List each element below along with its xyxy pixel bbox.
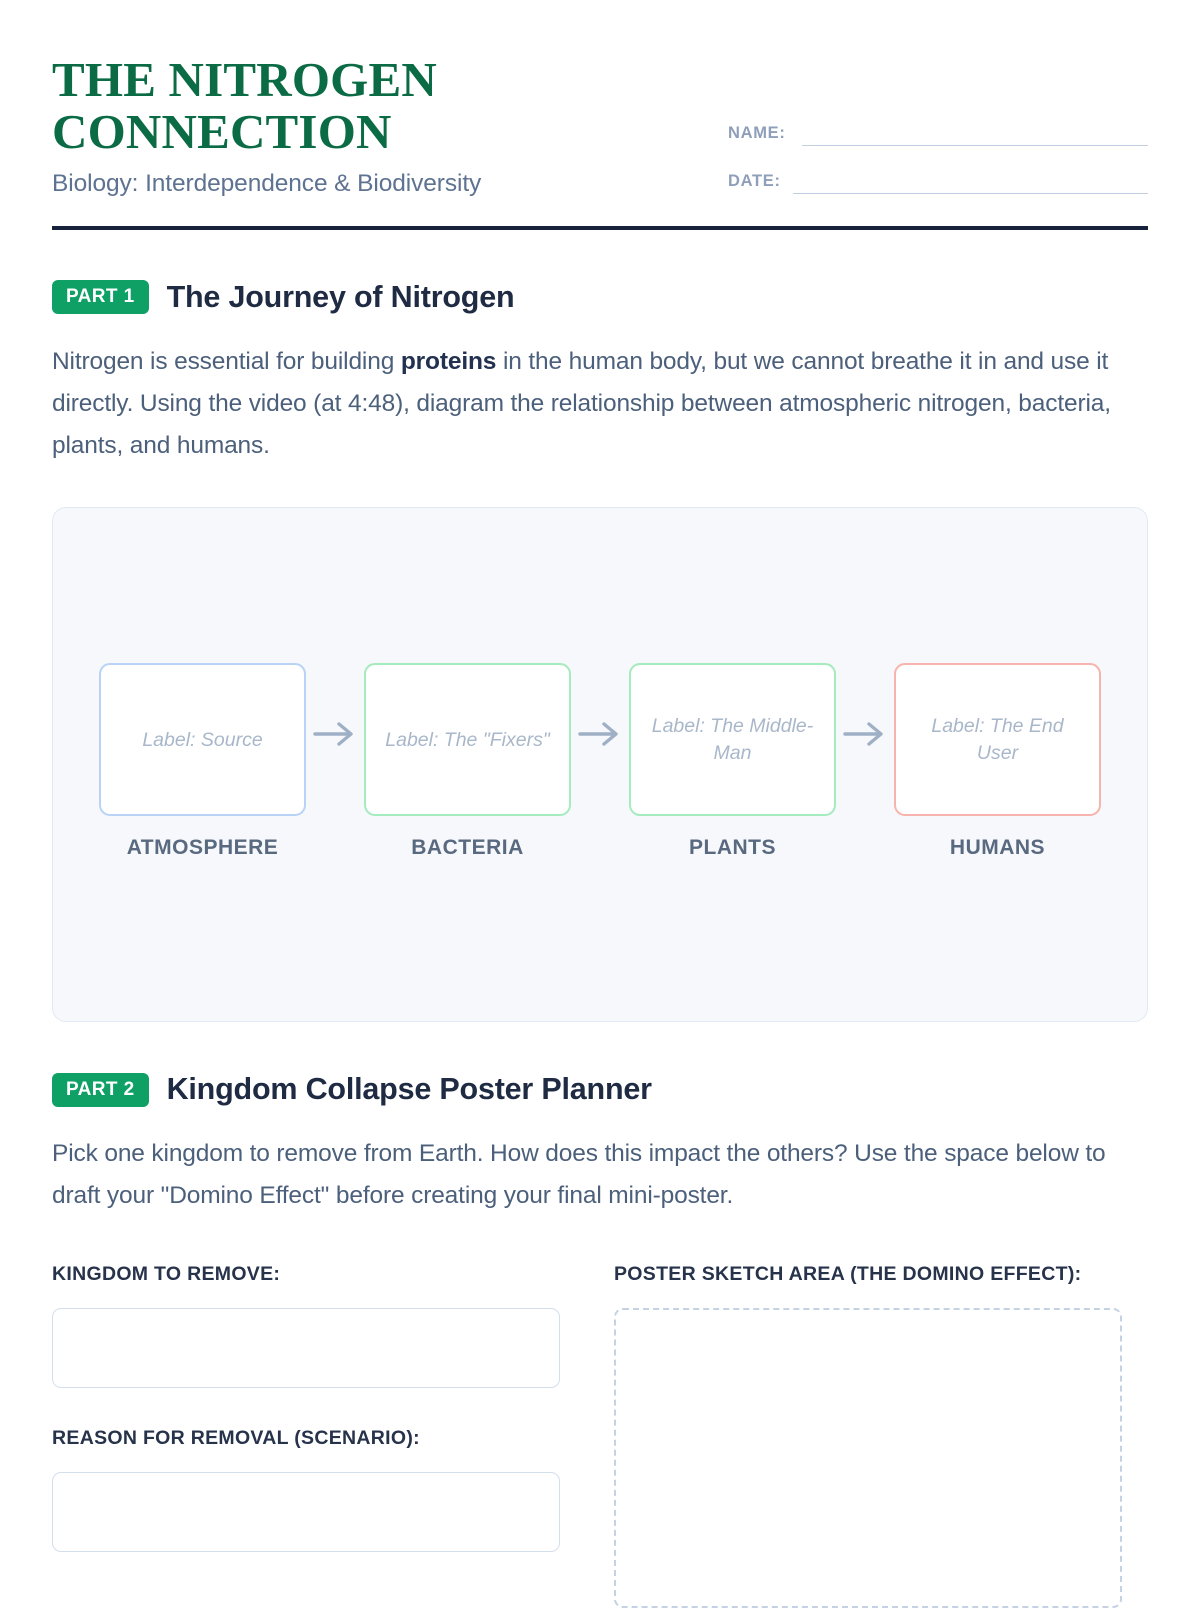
date-field-row: DATE: bbox=[728, 172, 1148, 194]
poster-sketch-area[interactable] bbox=[614, 1308, 1122, 1608]
part-1-section: PART 1 The Journey of Nitrogen Nitrogen … bbox=[52, 230, 1148, 1022]
part-1-heading: PART 1 The Journey of Nitrogen bbox=[52, 280, 1148, 315]
date-input[interactable] bbox=[793, 172, 1148, 194]
flow-node-atmosphere-hint: Label: Source bbox=[142, 727, 262, 753]
flow-node-humans-hint: Label: The End User bbox=[914, 713, 1081, 766]
part-2-left-column: KINGDOM TO REMOVE: REASON FOR REMOVAL (S… bbox=[52, 1260, 560, 1608]
part-2-right-column: POSTER SKETCH AREA (THE DOMINO EFFECT): bbox=[614, 1260, 1122, 1608]
nitrogen-flow-diagram: Label: Source ATMOSPHERE Label: The "Fix… bbox=[99, 663, 1101, 860]
flow-node-bacteria-caption: BACTERIA bbox=[364, 836, 571, 860]
student-fields: NAME: DATE: bbox=[728, 52, 1148, 194]
part-2-title: Kingdom Collapse Poster Planner bbox=[167, 1072, 652, 1107]
kingdom-to-remove-input[interactable] bbox=[52, 1308, 560, 1388]
date-label: DATE: bbox=[728, 172, 781, 194]
flow-node-plants-caption: PLANTS bbox=[629, 836, 836, 860]
poster-sketch-area-label: POSTER SKETCH AREA (THE DOMINO EFFECT): bbox=[614, 1260, 1122, 1288]
page-title: THE NITROGEN CONNECTION bbox=[52, 54, 482, 158]
flow-node-plants-box[interactable]: Label: The Middle-Man bbox=[629, 663, 836, 816]
reason-for-removal-label: REASON FOR REMOVAL (SCENARIO): bbox=[52, 1424, 560, 1452]
flow-node-humans: Label: The End User HUMANS bbox=[894, 663, 1101, 860]
part-1-instructions-pre: Nitrogen is essential for building bbox=[52, 348, 401, 375]
part-2-heading: PART 2 Kingdom Collapse Poster Planner bbox=[52, 1072, 1148, 1107]
part-1-instructions: Nitrogen is essential for building prote… bbox=[52, 341, 1127, 467]
part-1-badge: PART 1 bbox=[52, 280, 149, 314]
flow-node-plants-hint: Label: The Middle-Man bbox=[649, 713, 816, 766]
header-title-block: THE NITROGEN CONNECTION Biology: Interde… bbox=[52, 52, 692, 198]
flow-node-atmosphere: Label: Source ATMOSPHERE bbox=[99, 663, 306, 860]
page-subtitle: Biology: Interdependence & Biodiversity bbox=[52, 170, 692, 198]
worksheet-page: THE NITROGEN CONNECTION Biology: Interde… bbox=[0, 0, 1200, 1608]
flow-node-plants: Label: The Middle-Man PLANTS bbox=[629, 663, 836, 860]
flow-node-bacteria-hint: Label: The "Fixers" bbox=[385, 727, 550, 753]
arrow-right-icon bbox=[306, 663, 364, 747]
flow-node-bacteria: Label: The "Fixers" BACTERIA bbox=[364, 663, 571, 860]
flow-node-bacteria-box[interactable]: Label: The "Fixers" bbox=[364, 663, 571, 816]
flow-node-atmosphere-caption: ATMOSPHERE bbox=[99, 836, 306, 860]
reason-for-removal-input[interactable] bbox=[52, 1472, 560, 1552]
part-1-keyword: proteins bbox=[401, 348, 496, 375]
flow-node-atmosphere-box[interactable]: Label: Source bbox=[99, 663, 306, 816]
name-input[interactable] bbox=[802, 124, 1148, 146]
flow-node-humans-box[interactable]: Label: The End User bbox=[894, 663, 1101, 816]
kingdom-to-remove-label: KINGDOM TO REMOVE: bbox=[52, 1260, 560, 1288]
name-label: NAME: bbox=[728, 124, 786, 146]
flow-node-humans-caption: HUMANS bbox=[894, 836, 1101, 860]
part-2-section: PART 2 Kingdom Collapse Poster Planner P… bbox=[52, 1022, 1148, 1608]
name-field-row: NAME: bbox=[728, 124, 1148, 146]
worksheet-header: THE NITROGEN CONNECTION Biology: Interde… bbox=[52, 52, 1148, 198]
part-2-badge: PART 2 bbox=[52, 1073, 149, 1107]
arrow-right-icon bbox=[571, 663, 629, 747]
part-1-title: The Journey of Nitrogen bbox=[167, 280, 515, 315]
part-2-instructions: Pick one kingdom to remove from Earth. H… bbox=[52, 1133, 1127, 1217]
arrow-right-icon bbox=[836, 663, 894, 747]
part-2-form: KINGDOM TO REMOVE: REASON FOR REMOVAL (S… bbox=[52, 1260, 1148, 1608]
nitrogen-flow-panel: Label: Source ATMOSPHERE Label: The "Fix… bbox=[52, 507, 1148, 1022]
